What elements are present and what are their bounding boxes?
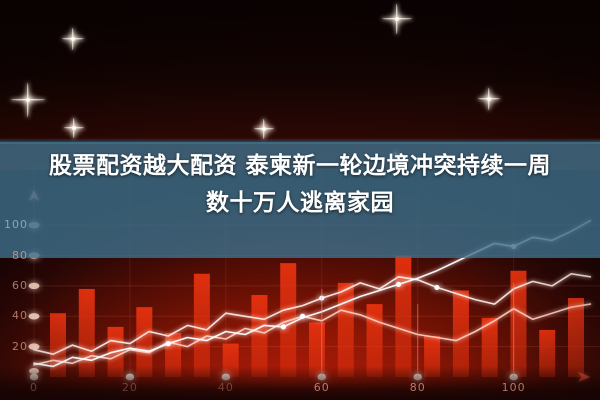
chart-bar bbox=[136, 307, 152, 377]
x-axis-tick-node bbox=[126, 374, 134, 381]
chart-data-point bbox=[396, 282, 401, 287]
y-axis-tick-node bbox=[29, 313, 40, 319]
chart-bar bbox=[50, 313, 66, 377]
banner-image: 股票配资越大配资 泰柬新一轮边境冲突持续一周 数十万人逃离家园 20406080… bbox=[0, 0, 600, 400]
chart-data-point bbox=[300, 314, 305, 319]
y-axis-tick-node bbox=[29, 283, 40, 289]
y-axis-tick-node bbox=[29, 368, 39, 374]
chart-bar bbox=[539, 330, 555, 377]
headline-line-1: 股票配资越大配资 泰柬新一轮边境冲突持续一周 bbox=[49, 153, 551, 179]
chart-bar bbox=[309, 322, 325, 377]
chart-bar bbox=[223, 344, 239, 377]
chart-bar bbox=[367, 304, 383, 377]
chart-bar bbox=[251, 295, 267, 377]
chart-bar bbox=[338, 283, 354, 377]
chart-data-point bbox=[434, 285, 439, 290]
chart-data-point bbox=[281, 324, 286, 329]
chart-bar bbox=[194, 274, 210, 377]
x-axis-tick-node bbox=[222, 374, 230, 381]
y-axis-tick-node bbox=[29, 343, 40, 349]
chart-bar bbox=[453, 290, 469, 377]
chart-bar bbox=[424, 336, 440, 377]
headline-line-2: 数十万人逃离家园 bbox=[0, 185, 600, 222]
x-axis-tick-node bbox=[30, 374, 38, 381]
chart-bar bbox=[395, 256, 411, 377]
chart-bar bbox=[79, 289, 95, 377]
headline: 股票配资越大配资 泰柬新一轮边境冲突持续一周 数十万人逃离家园 bbox=[0, 148, 600, 222]
chart-bar bbox=[568, 298, 584, 377]
chart-data-point bbox=[166, 341, 171, 346]
